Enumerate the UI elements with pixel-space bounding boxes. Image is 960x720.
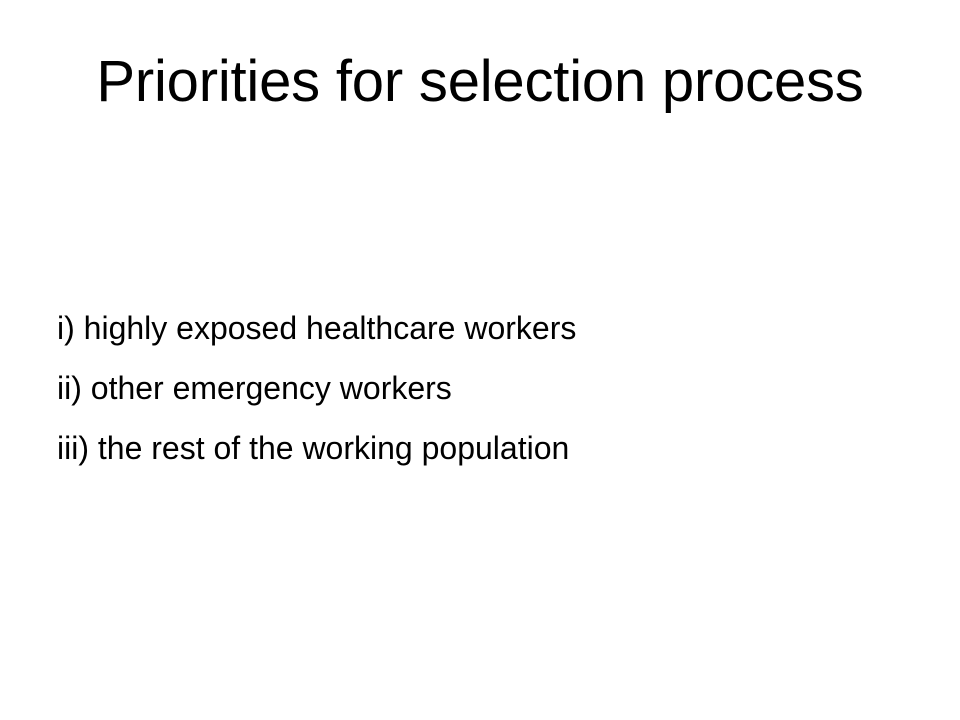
slide-body-content: i) highly exposed healthcare workers ii)…: [57, 298, 897, 478]
list-item: ii) other emergency workers: [57, 358, 897, 418]
presentation-slide: Priorities for selection process i) high…: [0, 0, 960, 720]
list-item: i) highly exposed healthcare workers: [57, 298, 897, 358]
page-title: Priorities for selection process: [48, 52, 912, 113]
list-item: iii) the rest of the working population: [57, 418, 897, 478]
